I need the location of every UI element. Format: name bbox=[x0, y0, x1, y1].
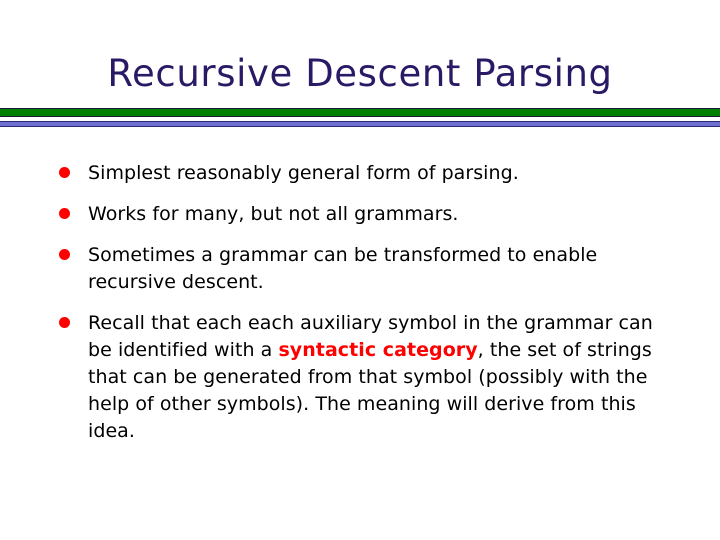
divider-rule-green bbox=[0, 108, 720, 117]
list-item: Recall that each each auxiliary symbol i… bbox=[56, 310, 682, 445]
bullet-dot-icon bbox=[59, 317, 70, 328]
divider-rule-blue bbox=[0, 121, 720, 127]
list-item: Simplest reasonably general form of pars… bbox=[56, 160, 682, 187]
bullet-dot-icon bbox=[59, 249, 70, 260]
bullet-text-1: Simplest reasonably general form of pars… bbox=[88, 160, 682, 187]
title-divider bbox=[0, 108, 720, 128]
bullet-text-2: Works for many, but not all grammars. bbox=[88, 201, 682, 228]
bullet-dot-icon bbox=[59, 208, 70, 219]
slide-title: Recursive Descent Parsing bbox=[0, 52, 720, 96]
list-item: Works for many, but not all grammars. bbox=[56, 201, 682, 228]
bullet-text-4: Recall that each each auxiliary symbol i… bbox=[88, 310, 682, 445]
bullet-list: Simplest reasonably general form of pars… bbox=[56, 160, 682, 445]
list-item: Sometimes a grammar can be transformed t… bbox=[56, 242, 682, 296]
bullet-text-3: Sometimes a grammar can be transformed t… bbox=[88, 242, 682, 296]
bullet-dot-icon bbox=[59, 167, 70, 178]
bullet-text-4-highlight: syntactic category bbox=[278, 339, 477, 361]
slide-canvas: Recursive Descent Parsing Simplest reaso… bbox=[0, 0, 720, 540]
